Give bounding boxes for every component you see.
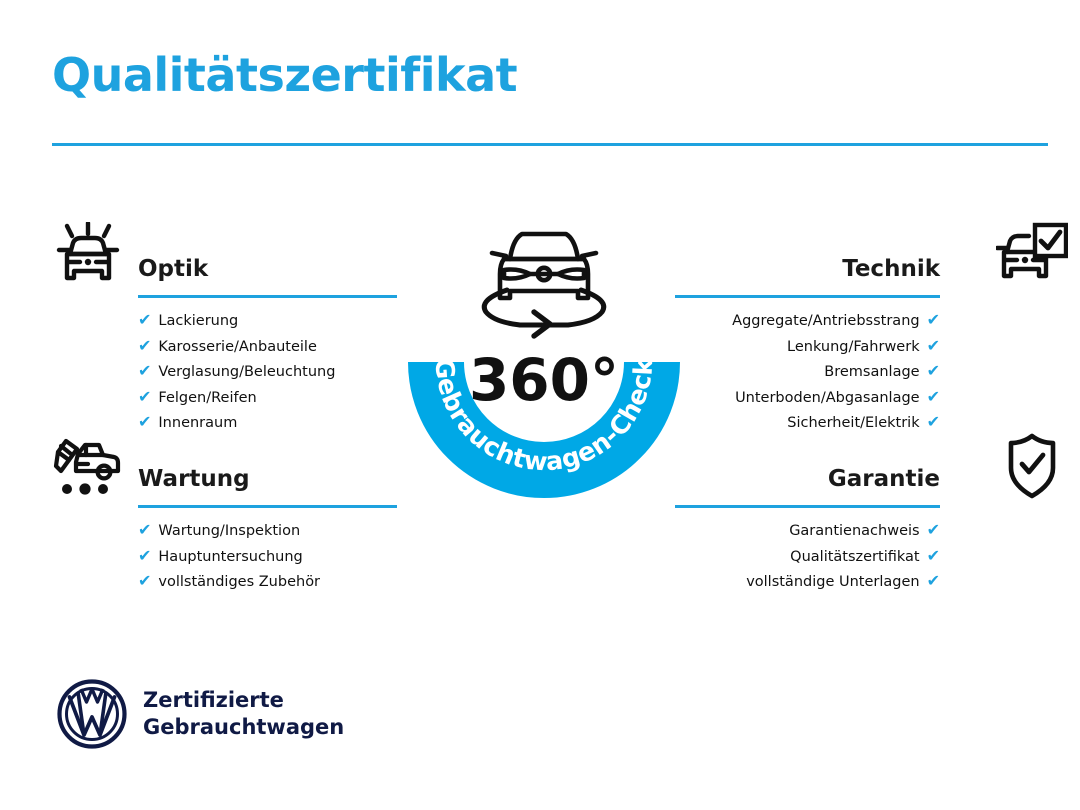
check-icon: ✔	[927, 312, 940, 328]
check-icon: ✔	[927, 548, 940, 564]
check-icon: ✔	[927, 389, 940, 405]
section-underline	[138, 295, 397, 298]
list-item-label: Aggregate/Antriebsstrang	[732, 309, 919, 335]
list-item: ✔Wartung/Inspektion	[138, 519, 397, 545]
list-item: Qualitätszertifikat✔	[675, 545, 940, 571]
section-wartung: Wartung ✔Wartung/Inspektion ✔Hauptunters…	[52, 432, 397, 596]
volkswagen-logo	[56, 678, 128, 750]
list-item: ✔Hauptuntersuchung	[138, 545, 397, 571]
check-icon: ✔	[927, 573, 940, 589]
list-item: Unterboden/Abgasanlage✔	[675, 386, 940, 412]
car-front-checkbox-icon	[996, 222, 1068, 292]
list-item: Lenkung/Fahrwerk✔	[675, 335, 940, 361]
page-title: Qualitätszertifikat	[52, 52, 517, 98]
list-item: Bremsanlage✔	[675, 360, 940, 386]
section-header: Technik	[675, 222, 1020, 298]
check-icon: ✔	[138, 338, 151, 354]
section-underline	[675, 505, 940, 508]
check-icon: ✔	[138, 363, 151, 379]
check-icon: ✔	[927, 363, 940, 379]
list-item-label: Unterboden/Abgasanlage	[735, 386, 920, 412]
check-icon: ✔	[927, 414, 940, 430]
list-item: vollständige Unterlagen✔	[675, 570, 940, 596]
check-icon: ✔	[138, 312, 151, 328]
car-front-lights-icon	[52, 222, 124, 292]
list-item: ✔Lackierung	[138, 309, 397, 335]
section-underline	[675, 295, 940, 298]
car-rotation-icon	[484, 234, 603, 336]
list-item: ✔Felgen/Reifen	[138, 386, 397, 412]
list-item: Garantienachweis✔	[675, 519, 940, 545]
section-header: Optik	[52, 222, 397, 298]
section-title: Wartung	[138, 466, 250, 492]
list-item-label: Wartung/Inspektion	[158, 519, 300, 545]
list-item: ✔Verglasung/Beleuchtung	[138, 360, 397, 386]
list-item-label: Garantienachweis	[789, 519, 919, 545]
vw-logo-lockup: Zertifizierte Gebrauchtwagen	[56, 678, 344, 750]
pencil-car-service-icon	[52, 432, 124, 502]
check-icon: ✔	[927, 338, 940, 354]
list-item-label: Qualitätszertifikat	[790, 545, 919, 571]
check-icon: ✔	[927, 522, 940, 538]
shield-check-icon	[996, 432, 1068, 502]
center-label: 360°	[469, 346, 619, 414]
checklist: ✔Lackierung ✔Karosserie/Anbauteile ✔Verg…	[52, 309, 397, 437]
list-item-label: vollständige Unterlagen	[746, 570, 919, 596]
section-underline	[138, 505, 397, 508]
checklist: ✔Wartung/Inspektion ✔Hauptuntersuchung ✔…	[52, 519, 397, 596]
list-item-label: vollständiges Zubehör	[158, 570, 320, 596]
section-header: Wartung	[52, 432, 397, 508]
list-item: ✔vollständiges Zubehör	[138, 570, 397, 596]
section-header: Garantie	[675, 432, 1020, 508]
section-title: Optik	[138, 256, 208, 282]
check-icon: ✔	[138, 548, 151, 564]
list-item-label: Bremsanlage	[824, 360, 919, 386]
list-item-label: Verglasung/Beleuchtung	[158, 360, 335, 386]
list-item-label: Hauptuntersuchung	[158, 545, 302, 571]
check-icon: ✔	[138, 522, 151, 538]
section-title: Garantie	[828, 466, 940, 492]
list-item-label: Lackierung	[158, 309, 238, 335]
section-garantie: Garantie Garantienachweis✔ Qualitätszert…	[675, 432, 1020, 596]
check-icon: ✔	[138, 573, 151, 589]
360-check-badge: Gebrauchtwagen-Check 360°	[400, 212, 688, 510]
section-optik: Optik ✔Lackierung ✔Karosserie/Anbauteile…	[52, 222, 397, 437]
title-divider	[52, 143, 1048, 146]
check-icon: ✔	[138, 389, 151, 405]
list-item: ✔Karosserie/Anbauteile	[138, 335, 397, 361]
section-technik: Technik Aggregate/Antriebsstrang✔ Lenkun…	[675, 222, 1020, 437]
list-item-label: Felgen/Reifen	[158, 386, 256, 412]
vw-logo-text: Zertifizierte Gebrauchtwagen	[143, 687, 344, 741]
checklist: Aggregate/Antriebsstrang✔ Lenkung/Fahrwe…	[675, 309, 1020, 437]
checklist: Garantienachweis✔ Qualitätszertifikat✔ v…	[675, 519, 1020, 596]
list-item-label: Karosserie/Anbauteile	[158, 335, 316, 361]
section-title: Technik	[842, 256, 940, 282]
check-icon: ✔	[138, 414, 151, 430]
list-item: Aggregate/Antriebsstrang✔	[675, 309, 940, 335]
list-item-label: Lenkung/Fahrwerk	[787, 335, 920, 361]
